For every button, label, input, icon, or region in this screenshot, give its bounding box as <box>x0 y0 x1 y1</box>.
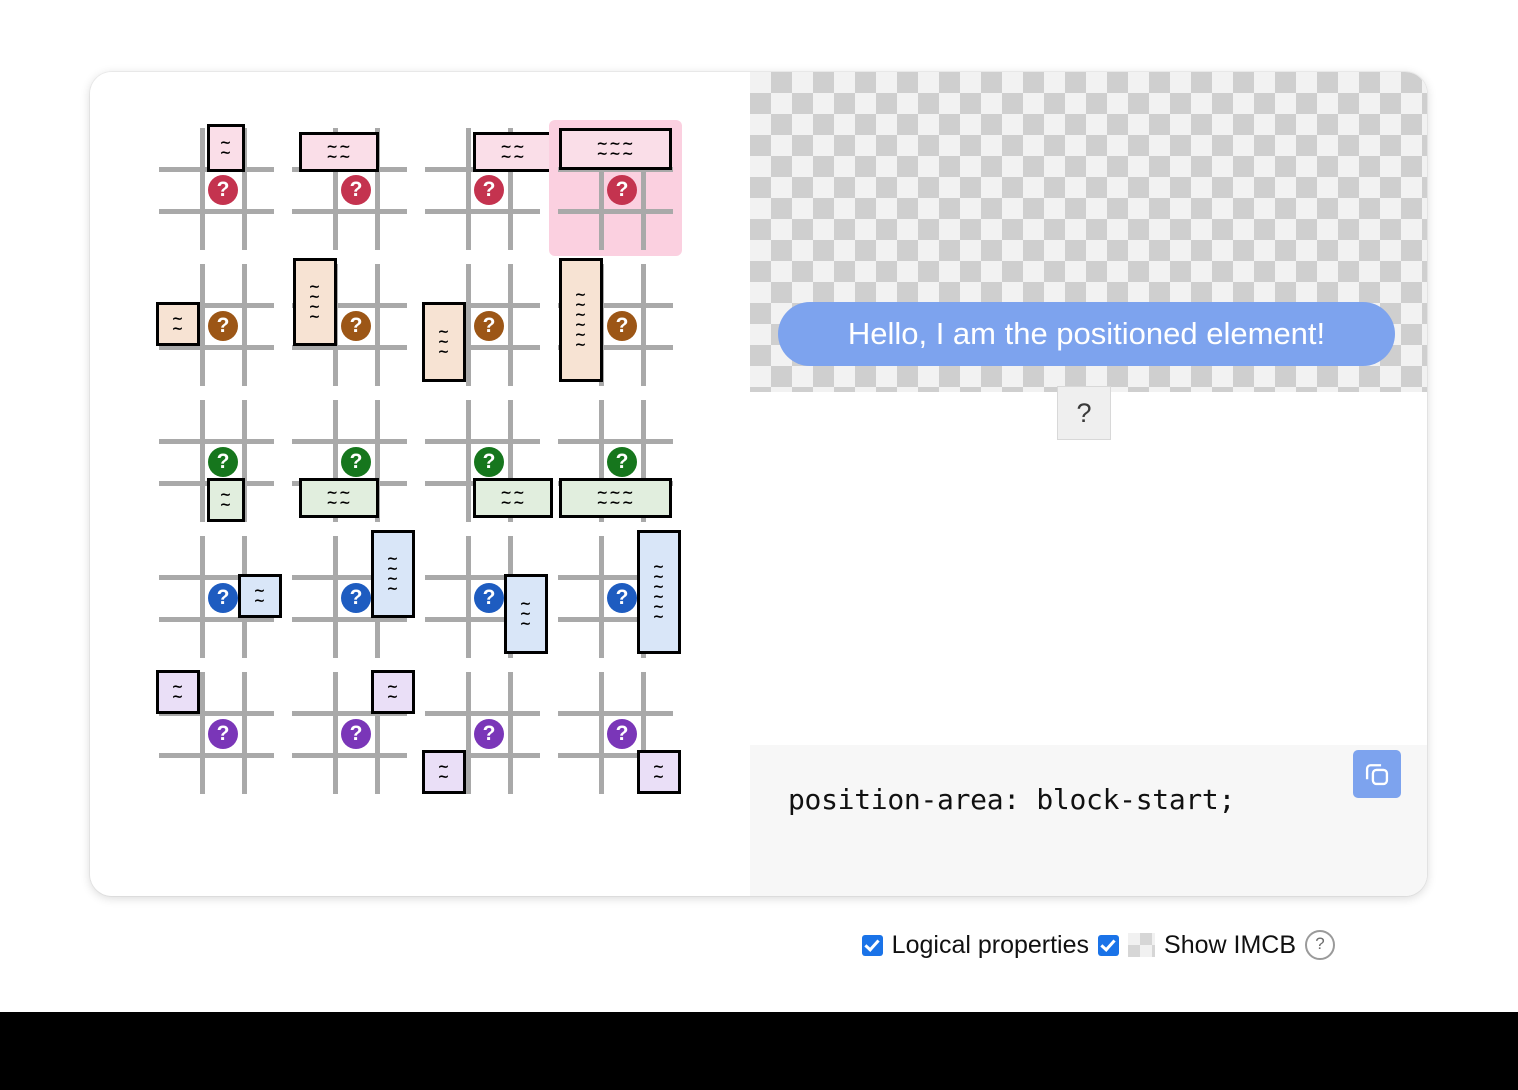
show-imcb-checkbox[interactable] <box>1098 935 1119 956</box>
anchor-marker-icon: ? <box>474 719 504 749</box>
box-text-line: ∼∼∼ <box>596 499 634 508</box>
box-text-line: ∼ <box>172 693 185 702</box>
position-area-cell[interactable]: ∼∼? <box>150 120 283 256</box>
box-text-line: ∼ <box>309 313 322 322</box>
box-text-line: ∼ <box>520 620 533 629</box>
positioned-element-text: Hello, I am the positioned element! <box>848 316 1325 352</box>
box-text-line: ∼ <box>220 501 233 510</box>
help-icon[interactable]: ? <box>1305 930 1335 960</box>
anchor-marker-icon: ? <box>607 175 637 205</box>
positioned-element-bubble: Hello, I am the positioned element! <box>778 302 1395 366</box>
positioned-box: ∼∼∼∼∼∼ <box>559 478 672 518</box>
show-imcb-label[interactable]: Show IMCB <box>1164 931 1296 960</box>
positioned-box: ∼∼ <box>156 670 200 714</box>
positioned-box: ∼∼∼ <box>504 574 548 654</box>
position-area-cell[interactable]: ∼∼? <box>416 664 549 800</box>
imcb-swatch-icon <box>1128 933 1155 957</box>
positioned-box: ∼∼∼∼ <box>299 478 379 518</box>
positioned-box: ∼∼ <box>371 670 415 714</box>
anchor-marker-icon: ? <box>208 583 238 613</box>
box-text-line: ∼∼ <box>326 153 351 162</box>
anchor-marker-icon: ? <box>474 447 504 477</box>
box-text-line: ∼ <box>438 348 451 357</box>
positioned-box: ∼∼∼∼ <box>371 530 415 618</box>
anchor-element: ? <box>1057 386 1111 440</box>
anchor-marker-icon: ? <box>208 175 238 205</box>
positioned-box: ∼∼ <box>422 750 466 794</box>
position-area-cell[interactable]: ∼∼∼? <box>416 528 549 664</box>
anchor-marker-icon: ? <box>607 311 637 341</box>
position-area-cell[interactable]: ∼∼∼∼∼∼? <box>549 528 682 664</box>
box-text-line: ∼∼ <box>500 499 525 508</box>
position-area-cell[interactable]: ∼∼∼∼∼∼? <box>549 120 682 256</box>
positioned-box: ∼∼ <box>637 750 681 794</box>
position-area-card: ∼∼?∼∼∼∼?∼∼∼∼?∼∼∼∼∼∼?∼∼?∼∼∼∼?∼∼∼?∼∼∼∼∼∼?∼… <box>90 72 1427 896</box>
position-area-cell[interactable]: ∼∼∼∼? <box>416 120 549 256</box>
positioned-box: ∼∼∼∼ <box>293 258 337 346</box>
grid-picker-panel: ∼∼?∼∼∼∼?∼∼∼∼?∼∼∼∼∼∼?∼∼?∼∼∼∼?∼∼∼?∼∼∼∼∼∼?∼… <box>90 72 750 896</box>
anchor-marker-icon: ? <box>208 719 238 749</box>
copy-icon <box>1363 760 1391 788</box>
position-area-cell[interactable]: ∼∼∼? <box>416 256 549 392</box>
anchor-marker-icon: ? <box>208 311 238 341</box>
positioned-box: ∼∼∼∼∼∼ <box>559 258 603 382</box>
box-text-line: ∼ <box>575 341 588 350</box>
position-area-cell[interactable]: ∼∼? <box>150 664 283 800</box>
anchor-marker-icon: ? <box>607 719 637 749</box>
position-area-cell[interactable]: ∼∼∼∼? <box>416 392 549 528</box>
position-area-cell[interactable]: ∼∼? <box>150 528 283 664</box>
bottom-bar <box>0 1012 1518 1090</box>
box-text-line: ∼ <box>172 325 185 334</box>
box-text-line: ∼∼ <box>326 499 351 508</box>
box-text-line: ∼ <box>438 773 451 782</box>
position-area-cell[interactable]: ∼∼∼∼∼∼? <box>549 392 682 528</box>
positioned-box: ∼∼∼∼∼∼ <box>637 530 681 654</box>
box-text-line: ∼∼∼ <box>596 150 634 159</box>
positioned-box: ∼∼∼∼ <box>473 132 553 172</box>
position-area-cell[interactable]: ∼∼? <box>150 392 283 528</box>
position-area-cell[interactable]: ∼∼? <box>549 664 682 800</box>
anchor-marker-icon: ? <box>341 583 371 613</box>
box-text-line: ∼ <box>254 597 267 606</box>
box-text-line: ∼∼ <box>500 153 525 162</box>
box-text-line: ∼ <box>387 585 400 594</box>
position-area-cell[interactable]: ∼∼∼∼? <box>283 392 416 528</box>
anchor-marker-icon: ? <box>341 447 371 477</box>
box-text-line: ∼ <box>220 149 233 158</box>
box-text-line: ∼ <box>387 693 400 702</box>
anchor-marker-icon: ? <box>341 719 371 749</box>
position-area-cell[interactable]: ∼∼∼∼? <box>283 256 416 392</box>
copy-button[interactable] <box>1353 750 1401 798</box>
anchor-marker-icon: ? <box>607 447 637 477</box>
anchor-marker-icon: ? <box>607 583 637 613</box>
position-area-cell[interactable]: ∼∼? <box>283 664 416 800</box>
anchor-marker-icon: ? <box>341 175 371 205</box>
anchor-marker-icon: ? <box>341 311 371 341</box>
box-text-line: ∼ <box>653 773 666 782</box>
code-panel: position-area: block-start; <box>750 745 1427 896</box>
positioned-box: ∼∼∼∼∼∼ <box>559 128 672 170</box>
anchor-marker-icon: ? <box>474 583 504 613</box>
anchor-marker-icon: ? <box>208 447 238 477</box>
footer-controls: Logical properties Show IMCB ? <box>0 920 1427 970</box>
screen: ∼∼?∼∼∼∼?∼∼∼∼?∼∼∼∼∼∼?∼∼?∼∼∼∼?∼∼∼?∼∼∼∼∼∼?∼… <box>0 0 1518 1090</box>
css-snippet: position-area: block-start; <box>788 783 1235 816</box>
position-area-cell[interactable]: ∼∼∼∼? <box>283 528 416 664</box>
logical-properties-label[interactable]: Logical properties <box>892 931 1089 960</box>
position-area-cell[interactable]: ∼∼∼∼? <box>283 120 416 256</box>
logical-properties-checkbox[interactable] <box>862 935 883 956</box>
anchor-marker-icon: ? <box>474 175 504 205</box>
positioned-box: ∼∼∼ <box>422 302 466 382</box>
position-area-grid[interactable]: ∼∼?∼∼∼∼?∼∼∼∼?∼∼∼∼∼∼?∼∼?∼∼∼∼?∼∼∼?∼∼∼∼∼∼?∼… <box>150 120 682 800</box>
positioned-box: ∼∼ <box>156 302 200 346</box>
positioned-box: ∼∼ <box>207 478 245 522</box>
positioned-box: ∼∼∼∼ <box>473 478 553 518</box>
box-text-line: ∼ <box>653 613 666 622</box>
positioned-box: ∼∼ <box>207 124 245 172</box>
position-area-cell[interactable]: ∼∼∼∼∼∼? <box>549 256 682 392</box>
anchor-marker-icon: ? <box>474 311 504 341</box>
preview-panel: Hello, I am the positioned element! ? po… <box>750 72 1427 896</box>
positioned-box: ∼∼∼∼ <box>299 132 379 172</box>
position-area-cell[interactable]: ∼∼? <box>150 256 283 392</box>
positioned-box: ∼∼ <box>238 574 282 618</box>
